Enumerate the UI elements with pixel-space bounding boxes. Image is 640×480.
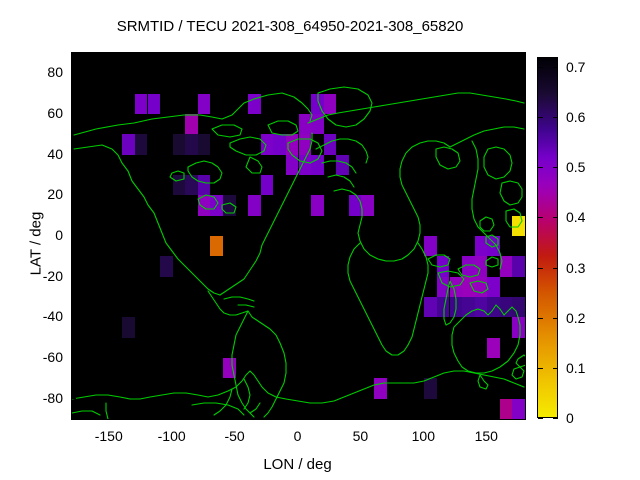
colorbar-tick-mark	[553, 418, 558, 419]
y-axis-tick-mark	[71, 235, 76, 236]
colorbar-tick-mark	[553, 217, 558, 218]
y-axis-tick-mark	[71, 113, 76, 114]
colorbar-tick-mark	[538, 117, 543, 118]
colorbar-tick-label: 0.2	[566, 310, 585, 326]
colorbar-tick-mark	[553, 268, 558, 269]
x-axis-label: LON / deg	[71, 456, 524, 473]
colorbar-tick-label: 0.5	[566, 159, 585, 175]
colorbar-tick-label: 0.6	[566, 109, 585, 125]
coastline-map	[72, 53, 525, 419]
colorbar-tick-mark	[553, 368, 558, 369]
y-axis-label: LAT / deg	[28, 164, 45, 324]
y-axis-tick-mark	[71, 357, 76, 358]
colorbar-tick-mark	[538, 67, 543, 68]
figure-window: SRMTID / TECU 2021-308_64950-2021-308_65…	[0, 0, 640, 480]
y-axis-tick-mark	[71, 194, 76, 195]
colorbar-tick-mark	[538, 418, 543, 419]
colorbar	[537, 57, 558, 418]
colorbar-tick-label: 0.3	[566, 260, 585, 276]
colorbar-tick-label: 0.1	[566, 360, 585, 376]
y-axis-tick-mark	[71, 276, 76, 277]
colorbar-tick-mark	[553, 67, 558, 68]
y-axis-tick-mark	[71, 398, 76, 399]
colorbar-tick-mark	[538, 217, 543, 218]
x-axis-tick-mark	[486, 413, 487, 418]
colorbar-tick-mark	[538, 318, 543, 319]
y-axis-tick-label: 60	[3, 105, 63, 121]
x-axis-tick-mark	[172, 413, 173, 418]
chart-title: SRMTID / TECU 2021-308_64950-2021-308_65…	[0, 18, 580, 35]
x-axis-tick-mark	[360, 413, 361, 418]
colorbar-tick-mark	[538, 268, 543, 269]
y-axis-tick-mark	[71, 154, 76, 155]
x-axis-tick-mark	[235, 413, 236, 418]
colorbar-tick-label: 0.7	[566, 59, 585, 75]
colorbar-tick-label: 0	[566, 410, 574, 426]
y-axis-tick-label: 80	[3, 64, 63, 80]
y-axis-tick-label: 40	[3, 146, 63, 162]
x-axis-tick-mark	[423, 413, 424, 418]
y-axis-tick-label: -60	[3, 349, 63, 365]
y-axis-tick-label: -80	[3, 390, 63, 406]
plot-area	[71, 52, 526, 420]
x-axis-tick-mark	[298, 413, 299, 418]
x-axis-tick-mark	[109, 413, 110, 418]
y-axis-tick-mark	[71, 316, 76, 317]
colorbar-tick-label: 0.4	[566, 209, 585, 225]
colorbar-tick-mark	[538, 167, 543, 168]
colorbar-tick-mark	[553, 117, 558, 118]
y-axis-tick-mark	[71, 72, 76, 73]
colorbar-tick-mark	[553, 167, 558, 168]
x-axis-tick-label: 150	[446, 428, 526, 444]
colorbar-tick-mark	[553, 318, 558, 319]
colorbar-tick-mark	[538, 368, 543, 369]
